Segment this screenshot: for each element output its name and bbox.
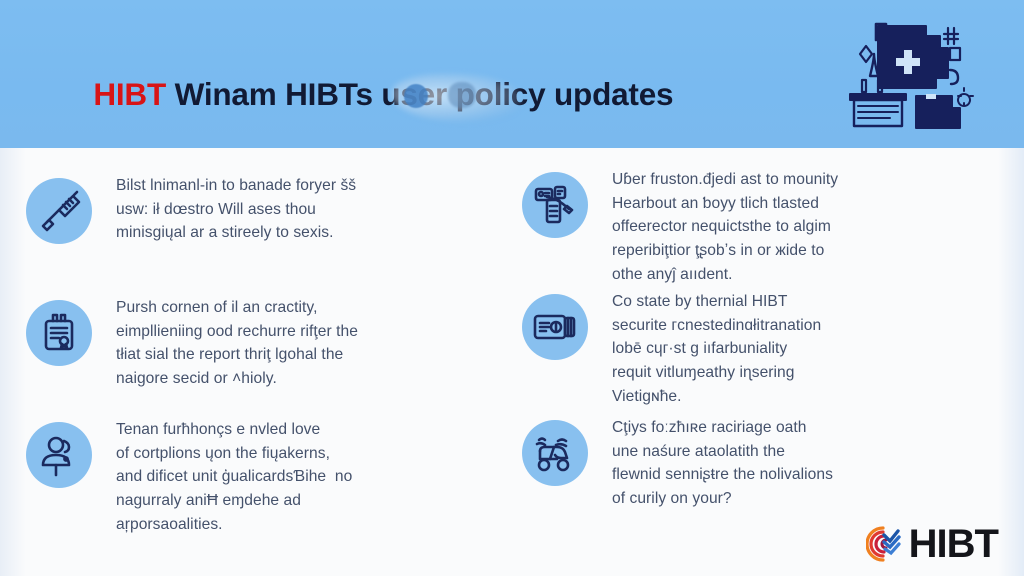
feature-column-right: Uɓer fruston.đjedi ast to mounity Hearbo… [522, 148, 1022, 576]
feature-item: Bilst lnimanl-in to banade foryer šš usw… [26, 174, 496, 245]
id-card-scanner-icon [522, 172, 588, 238]
medical-briefcase-documents-icon [844, 14, 978, 138]
person-profile-icon [26, 422, 92, 488]
feature-column-left: Bilst lnimanl-in to banade foryer šš usw… [26, 148, 526, 576]
hibt-logo-text: HIBT [909, 524, 998, 564]
title-blur-artifact-a [404, 84, 428, 108]
infographic-page: HIBT Winam HIBTs user policy updates min… [0, 0, 1024, 576]
hibt-footer-logo: HIBT [866, 524, 998, 564]
title-brand: HIBT [93, 76, 166, 112]
feature-item: Co state by thernial HIBT securite гcnes… [522, 290, 992, 408]
syringe-icon [26, 178, 92, 244]
document-certificate-icon [26, 300, 92, 366]
feature-text: Cţiys foːzħıʀe raciriage oath une naśure… [612, 416, 833, 511]
feature-item: Tenan furħhonçs e nvled love of cortplio… [26, 418, 496, 536]
left-edge-shading [0, 148, 26, 576]
feature-text: Tenan furħhonçs e nvled love of cortplio… [116, 418, 352, 536]
feature-item: Pursh cornen of il an cractity, eimpllie… [26, 296, 496, 391]
feature-item: Cţiys foːzħıʀe raciriage oath une naśure… [522, 416, 992, 511]
feature-text: Co state by thernial HIBT securite гcnes… [612, 290, 821, 408]
body-area: Bilst lnimanl-in to banade foryer šš usw… [0, 148, 1024, 576]
hibt-swirl-logo-icon [866, 525, 904, 563]
feature-item: Uɓer fruston.đjedi ast to mounity Hearbo… [522, 168, 992, 286]
feature-text: Bilst lnimanl-in to banade foryer šš usw… [116, 174, 356, 245]
header-band: HIBT Winam HIBTs user policy updates min… [0, 0, 1024, 148]
title-blur-artifact-b [448, 82, 476, 108]
feature-text: Uɓer fruston.đjedi ast to mounity Hearbo… [612, 168, 838, 286]
payment-card-icon [522, 294, 588, 360]
feature-text: Pursh cornen of il an cractity, eimpllie… [116, 296, 358, 391]
motorbike-rider-icon [522, 420, 588, 486]
